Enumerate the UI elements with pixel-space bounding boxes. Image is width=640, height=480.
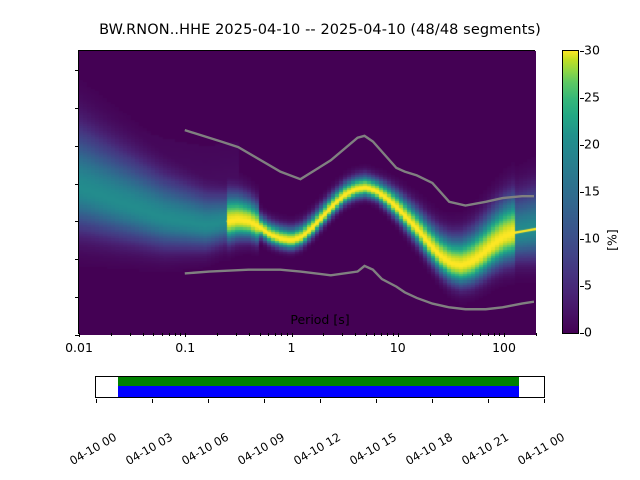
timeline-tick — [320, 399, 321, 403]
timeline-tick-label: 04-10 21 — [459, 430, 511, 468]
x-axis-tick — [323, 333, 324, 336]
x-axis-tick — [275, 333, 276, 336]
timeline-tick — [152, 399, 153, 403]
x-axis-tick — [162, 333, 163, 336]
colorbar-tick-label: 25 — [584, 90, 600, 105]
x-axis-tick — [393, 333, 394, 336]
colorbar-tick-label: 5 — [584, 278, 592, 293]
x-axis-tick — [374, 333, 375, 336]
timeline-tick — [264, 399, 265, 403]
x-axis-tick — [494, 333, 495, 336]
noise-model-curves — [79, 51, 534, 334]
timeline-tick-label: 04-10 18 — [403, 430, 455, 468]
timeline-tick-label: 04-10 15 — [347, 430, 399, 468]
x-axis-label: Period [s] — [290, 312, 349, 327]
x-axis-tick — [143, 333, 144, 336]
y-axis-tick — [75, 221, 79, 222]
colorbar-label: [%] — [605, 229, 620, 251]
timeline-tick — [544, 399, 545, 403]
x-axis-tick — [281, 333, 282, 336]
timeline-tick-label: 04-10 03 — [123, 430, 175, 468]
x-axis-tick — [448, 333, 449, 336]
x-axis-tick — [355, 333, 356, 336]
timeline-tick-label: 04-10 12 — [291, 430, 343, 468]
x-axis-tick — [398, 333, 399, 337]
x-axis-tick — [180, 333, 181, 336]
x-axis-tick-label: 100 — [492, 340, 516, 355]
timeline-tick — [96, 399, 97, 403]
y-axis-tick — [75, 184, 79, 185]
y-axis-tick — [75, 297, 79, 298]
x-axis-tick — [462, 333, 463, 336]
x-axis-tick — [292, 333, 293, 337]
x-axis-tick — [499, 333, 500, 336]
x-axis-tick — [381, 333, 382, 336]
x-axis-tick — [169, 333, 170, 336]
x-axis-tick — [287, 333, 288, 336]
noise-model-nhnm — [185, 130, 534, 205]
y-axis-tick — [75, 70, 79, 71]
x-axis-tick — [249, 333, 250, 336]
x-axis-tick — [79, 333, 80, 337]
x-axis-tick — [268, 333, 269, 336]
timeline-tick — [208, 399, 209, 403]
x-axis-tick — [387, 333, 388, 336]
x-axis-tick — [480, 333, 481, 336]
noise-model-nlnm — [185, 266, 534, 309]
colorbar-tick-label: 20 — [584, 137, 600, 152]
x-axis-tick — [217, 333, 218, 336]
x-axis-tick-label: 10 — [390, 340, 406, 355]
y-axis-tick — [75, 108, 79, 109]
x-axis-tick — [236, 333, 237, 336]
timeline-tick-label: 04-11 00 — [515, 430, 567, 468]
x-axis-tick-label: 0.01 — [65, 340, 93, 355]
timeline-tick-label: 04-10 09 — [235, 430, 287, 468]
x-axis-tick — [175, 333, 176, 336]
colorbar — [562, 50, 579, 334]
x-axis-tick — [504, 333, 505, 337]
x-axis-tick — [536, 333, 537, 336]
x-axis-tick — [342, 333, 343, 336]
y-axis-tick — [75, 259, 79, 260]
y-axis-tick — [75, 335, 79, 336]
x-axis-tick-label: 1 — [288, 340, 296, 355]
x-axis-tick — [130, 333, 131, 336]
x-axis-tick — [185, 333, 186, 337]
timeline-tick — [432, 399, 433, 403]
timeline-tick-label: 04-10 06 — [179, 430, 231, 468]
x-axis-tick-label: 0.1 — [175, 340, 195, 355]
x-axis-tick — [366, 333, 367, 336]
x-axis-tick — [260, 333, 261, 336]
timeline-tick-label: 04-10 00 — [67, 430, 119, 468]
x-axis-tick — [472, 333, 473, 336]
timeline-tick — [488, 399, 489, 403]
x-axis-tick — [488, 333, 489, 336]
plot-title: BW.RNON..HHE 2025-04-10 -- 2025-04-10 (4… — [0, 22, 640, 38]
colorbar-tick-label: 10 — [584, 231, 600, 246]
timeline-tick — [376, 399, 377, 403]
ppsd-plot-area: 0.010.1110100 — [78, 50, 535, 334]
x-axis-tick — [430, 333, 431, 336]
x-axis-tick — [153, 333, 154, 336]
timeline-bar-psd-segments — [118, 386, 519, 397]
colorbar-tick-label: 0 — [584, 325, 592, 340]
colorbar-tick-label: 30 — [584, 43, 600, 58]
x-axis-tick — [111, 333, 112, 336]
timeline-bar-data-available — [118, 377, 519, 386]
colorbar-tick-label: 15 — [584, 184, 600, 199]
y-axis-tick — [75, 146, 79, 147]
timeline-coverage-widget[interactable] — [95, 376, 545, 398]
